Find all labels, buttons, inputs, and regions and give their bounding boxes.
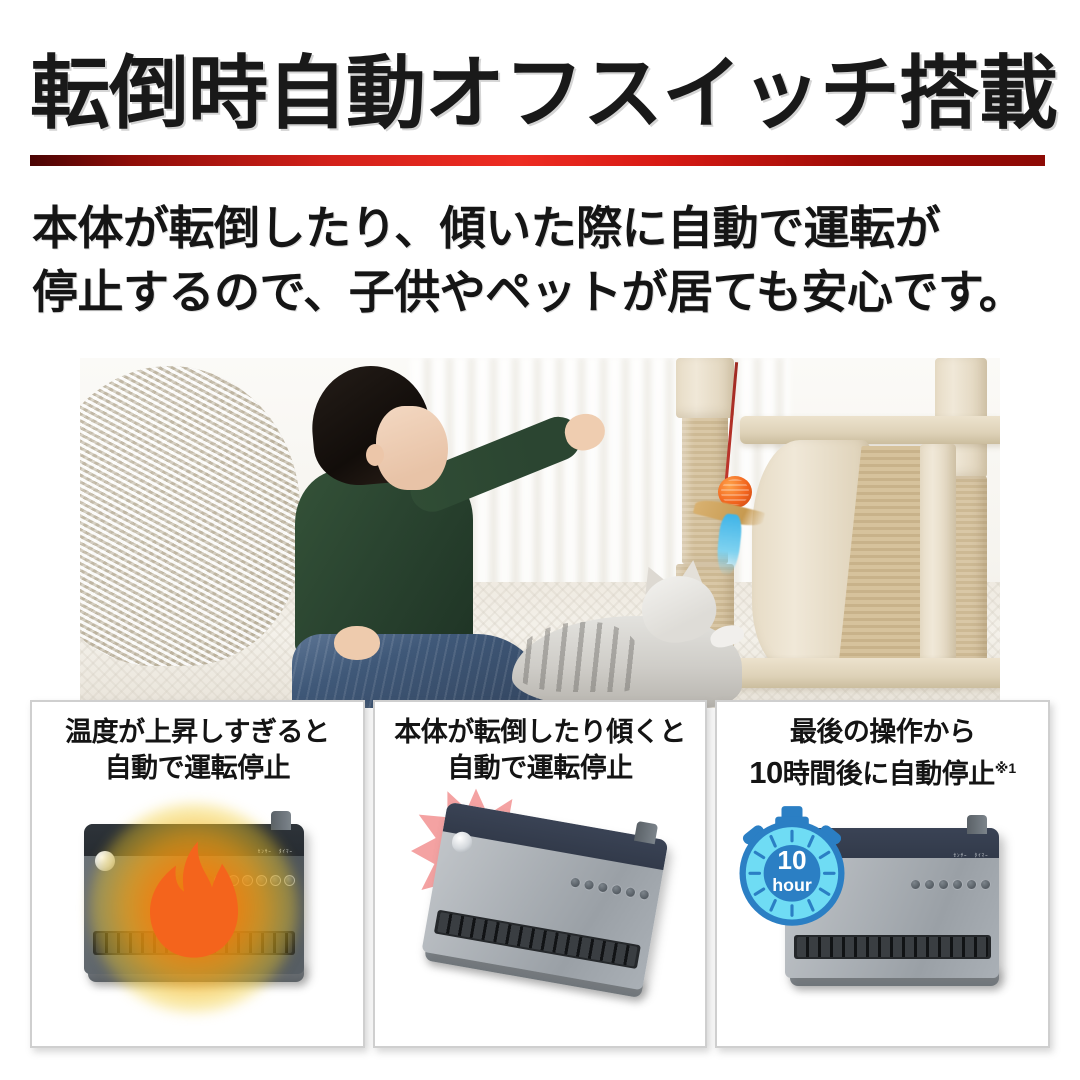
card-title-line-1: 本体が転倒したり傾くと xyxy=(383,714,698,750)
accent-divider-bar xyxy=(30,155,1045,166)
card-title-line-2: 自動で運転停止 xyxy=(383,750,698,786)
heater-panel-labels: ｾﾝｻｰ ﾀｲﾏｰ xyxy=(953,852,988,859)
card-title-line-1: 温度が上昇しすぎると xyxy=(40,714,355,750)
heater-button xyxy=(924,879,935,890)
cat-tree-base xyxy=(716,658,1000,688)
card-figure-auto-off-timer: ｾﾝｻｰ ﾀｲﾏｰ xyxy=(717,796,1048,1046)
boy-resting-hand xyxy=(334,626,380,660)
heater-button xyxy=(624,886,637,899)
heater-button xyxy=(966,879,977,890)
heater-button xyxy=(596,881,609,894)
stopwatch-icon: 10 hour xyxy=(729,804,855,930)
heater-button xyxy=(582,878,595,891)
heater-button-row xyxy=(910,879,991,890)
advertisement-page: 転倒時自動オフスイッチ搭載 本体が転倒したり、傾いた際に自動で運転が 停止するの… xyxy=(0,0,1080,1080)
card-title-line-2: 自動で運転停止 xyxy=(40,750,355,786)
card-title-tip-over: 本体が転倒したり傾くと 自動で運転停止 xyxy=(375,702,706,786)
cat-tree-plush-top-1 xyxy=(676,358,734,418)
heater-button-row xyxy=(569,876,651,901)
feature-card-overheat: 温度が上昇しすぎると 自動で運転停止 ｾﾝｻｰ ﾀｲﾏｰ xyxy=(30,700,365,1048)
feature-card-tip-over: 本体が転倒したり傾くと 自動で運転停止 xyxy=(373,700,708,1048)
boy-jeans xyxy=(292,634,547,708)
svg-text:hour: hour xyxy=(773,875,813,895)
heater-button xyxy=(569,876,582,889)
feature-card-auto-off-timer: 最後の操作から 10時間後に自動停止※1 ｾﾝｻｰ ﾀｲﾏｰ xyxy=(715,700,1050,1048)
heater-illustration-tilted xyxy=(421,802,668,991)
heater-top-knob xyxy=(967,815,986,835)
heater-top-knob xyxy=(634,821,657,844)
feature-card-row: 温度が上昇しすぎると 自動で運転停止 ｾﾝｻｰ ﾀｲﾏｰ xyxy=(30,700,1050,1048)
cat-tree-ramp-right xyxy=(920,444,956,670)
lifestyle-photo xyxy=(80,358,1000,708)
card-figure-tip-over xyxy=(375,790,706,1040)
svg-text:10: 10 xyxy=(778,845,807,875)
card-title-line-2: 10時間後に自動停止※1 xyxy=(725,750,1040,792)
card-title-line-1: 最後の操作から xyxy=(725,714,1040,750)
page-title: 転倒時自動オフスイッチ搭載 xyxy=(30,44,1050,144)
heater-air-vent xyxy=(794,935,991,959)
subtitle-line-2: 停止するので、子供やペットが居ても安心です。 xyxy=(32,260,1052,324)
boy-face xyxy=(376,406,448,490)
card-title-hours-rest: 時間後に自動停止 xyxy=(783,759,995,789)
rattan-pouf xyxy=(80,366,300,666)
card-title-overheat: 温度が上昇しすぎると 自動で運転停止 xyxy=(32,702,363,786)
boy-ear xyxy=(366,444,384,466)
heater-button xyxy=(638,888,651,901)
heater-top-knob xyxy=(271,811,291,831)
flame-icon xyxy=(146,840,242,960)
heater-button xyxy=(910,879,921,890)
subtitle-line-1: 本体が転倒したり、傾いた際に自動で運転が xyxy=(32,196,1052,260)
subtitle-block: 本体が転倒したり、傾いた際に自動で運転が 停止するので、子供やペットが居ても安心… xyxy=(32,196,1052,324)
card-title-footnote-marker: ※1 xyxy=(995,760,1016,776)
card-figure-overheat: ｾﾝｻｰ ﾀｲﾏｰ xyxy=(32,790,363,1040)
heater-button xyxy=(610,883,623,896)
heater-button xyxy=(980,879,991,890)
card-title-auto-off-timer: 最後の操作から 10時間後に自動停止※1 xyxy=(717,702,1048,792)
heater-button xyxy=(938,879,949,890)
heater-button xyxy=(952,879,963,890)
cat-tree-shelf xyxy=(740,416,1000,444)
card-title-hours-number: 10 xyxy=(749,755,782,790)
